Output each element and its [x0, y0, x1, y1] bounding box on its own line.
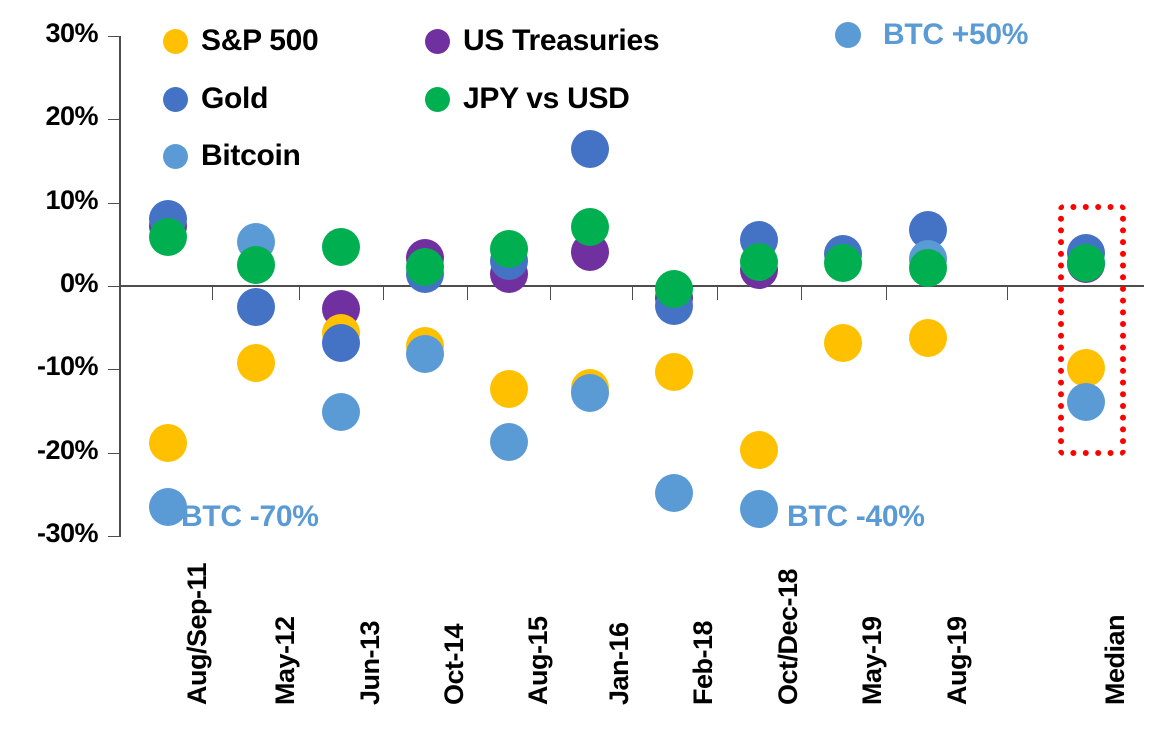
y-tick-mark	[108, 119, 121, 120]
legend-item-bitcoin[interactable]: Bitcoin	[163, 139, 301, 173]
data-point-s-p-500	[149, 424, 187, 462]
legend-label-sp500: S&P 500	[201, 24, 318, 58]
y-axis-label: 10%	[0, 185, 98, 216]
x-tick-mark	[467, 287, 468, 300]
x-axis-label: May-19	[857, 616, 888, 705]
data-point-jpy-vs-usd	[740, 243, 778, 281]
legend-item-us-treasuries[interactable]: US Treasuries	[425, 24, 659, 58]
x-axis-label: Feb-18	[688, 621, 719, 705]
x-tick-mark	[717, 287, 718, 300]
median-highlight-box	[1058, 204, 1126, 456]
x-tick-mark	[383, 287, 384, 300]
legend-label-bitcoin: Bitcoin	[201, 139, 301, 173]
x-tick-mark	[299, 287, 300, 300]
data-point-bitcoin	[406, 335, 444, 373]
x-axis-label: Median	[1100, 615, 1131, 705]
data-point-s-p-500	[655, 353, 693, 391]
data-point-s-p-500	[490, 370, 528, 408]
annotation-label-btc-plus-50: BTC +50%	[883, 18, 1028, 52]
x-tick-mark	[1007, 287, 1008, 300]
data-point-bitcoin	[740, 490, 778, 528]
x-axis-label: Jun-13	[355, 621, 386, 705]
y-axis-label: -20%	[0, 435, 98, 466]
x-axis-label: Jan-16	[604, 622, 635, 705]
legend-swatch-jpy-vs-usd	[425, 87, 450, 112]
y-tick-mark	[108, 369, 121, 370]
x-axis-label: Oct-14	[439, 624, 470, 705]
data-point-bitcoin	[571, 374, 609, 412]
y-axis-label: 20%	[0, 101, 98, 132]
data-point-s-p-500	[909, 319, 947, 357]
x-tick-mark	[550, 287, 551, 300]
legend-swatch-us-treasuries	[425, 29, 450, 54]
data-point-jpy-vs-usd	[237, 246, 275, 284]
x-axis-label: Aug-19	[942, 616, 973, 705]
legend-item-sp500[interactable]: S&P 500	[163, 24, 318, 58]
data-point-gold	[571, 130, 609, 168]
data-point-jpy-vs-usd	[406, 248, 444, 286]
legend-swatch-gold	[163, 87, 188, 112]
x-tick-mark	[212, 287, 213, 300]
annotation-label-btc-minus-70: BTC -70%	[181, 500, 319, 534]
y-tick-mark	[108, 453, 121, 454]
y-axis-label: 30%	[0, 18, 98, 49]
data-point-s-p-500	[740, 431, 778, 469]
x-tick-mark	[886, 287, 887, 300]
x-tick-mark	[632, 287, 633, 300]
data-point-gold	[322, 324, 360, 362]
data-point-jpy-vs-usd	[322, 228, 360, 266]
x-tick-mark	[801, 287, 802, 300]
y-tick-mark	[108, 36, 121, 37]
legend-item-gold[interactable]: Gold	[163, 82, 268, 116]
annotation-btc-plus-50: BTC +50%	[835, 18, 1028, 52]
y-axis-label: 0%	[0, 268, 98, 299]
annotation-btc-minus-70: BTC -70%	[181, 500, 319, 534]
x-axis-label: Oct/Dec-18	[773, 569, 804, 705]
x-axis-label: Aug/Sep-11	[182, 563, 213, 705]
y-axis-label: -10%	[0, 351, 98, 382]
bitcoin-marker-icon	[835, 22, 861, 48]
legend-swatch-sp500	[163, 29, 188, 54]
y-tick-mark	[108, 203, 121, 204]
legend-label-gold: Gold	[201, 82, 268, 116]
data-point-s-p-500	[824, 324, 862, 362]
legend-label-jpy-vs-usd: JPY vs USD	[463, 82, 630, 116]
y-tick-mark	[108, 286, 121, 287]
data-point-gold	[237, 288, 275, 326]
legend-label-us-treasuries: US Treasuries	[463, 24, 659, 58]
x-axis-label: Aug-15	[523, 616, 554, 705]
chart-page: 30%20%10%0%-10%-20%-30% Aug/Sep-11May-12…	[0, 0, 1151, 739]
data-point-bitcoin	[490, 423, 528, 461]
y-tick-mark	[108, 536, 121, 537]
data-point-jpy-vs-usd	[571, 208, 609, 246]
data-point-bitcoin	[322, 393, 360, 431]
data-point-s-p-500	[237, 344, 275, 382]
annotation-btc-minus-40: BTC -40%	[787, 500, 925, 534]
data-point-jpy-vs-usd	[824, 244, 862, 282]
legend-item-jpy-vs-usd[interactable]: JPY vs USD	[425, 82, 630, 116]
data-point-jpy-vs-usd	[149, 218, 187, 256]
data-point-jpy-vs-usd	[909, 249, 947, 287]
annotation-label-btc-minus-40: BTC -40%	[787, 500, 925, 534]
legend-swatch-bitcoin	[163, 144, 188, 169]
y-axis-label: -30%	[0, 518, 98, 549]
x-axis-label: May-12	[270, 616, 301, 705]
data-point-bitcoin	[655, 474, 693, 512]
